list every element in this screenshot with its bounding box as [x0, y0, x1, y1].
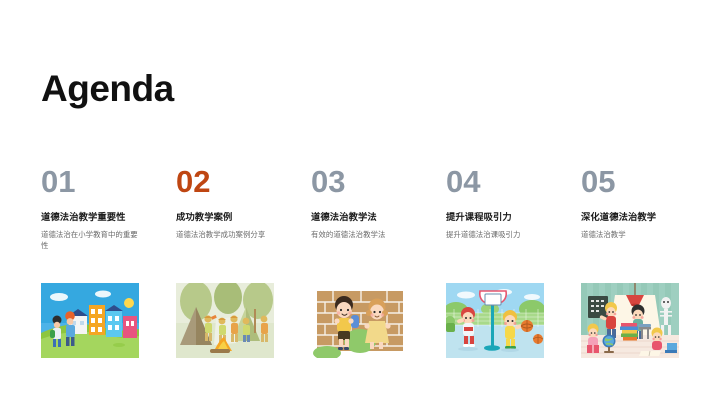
agenda-item-03[interactable]: 03 道德法治教学法 有效的道德法治教学法	[311, 166, 446, 251]
children-playing-basketball-illustration	[446, 283, 544, 358]
page-title: Agenda	[41, 70, 174, 107]
item-title-04: 提升课程吸引力	[446, 212, 581, 224]
item-title-03: 道德法治教学法	[311, 212, 446, 224]
two-children-at-brick-wall-illustration	[311, 283, 409, 358]
agenda-item-04[interactable]: 04 提升课程吸引力 提升道德法治课吸引力	[446, 166, 581, 251]
agenda-item-05[interactable]: 05 深化道德法治教学 道德法治教学	[581, 166, 716, 251]
agenda-grid: 01 道德法治教学重要性 道德法治在小学教育中的重要性	[41, 166, 701, 251]
agenda-item-02[interactable]: 02 成功教学案例 道德法治教学成功案例分享	[176, 166, 311, 251]
item-number-04: 04	[446, 166, 581, 204]
item-title-02: 成功教学案例	[176, 212, 311, 224]
item-number-02: 02	[176, 166, 311, 204]
item-number-03: 03	[311, 166, 446, 204]
item-title-05: 深化道德法治教学	[581, 212, 716, 224]
scouts-around-campfire-illustration	[176, 283, 274, 358]
children-walking-in-town-illustration	[41, 283, 139, 358]
agenda-item-01[interactable]: 01 道德法治教学重要性 道德法治在小学教育中的重要性	[41, 166, 176, 251]
item-title-01: 道德法治教学重要性	[41, 212, 176, 224]
item-desc-04: 提升道德法治课吸引力	[446, 229, 544, 240]
item-desc-02: 道德法治教学成功案例分享	[176, 229, 274, 240]
item-desc-03: 有效的道德法治教学法	[311, 229, 409, 240]
item-desc-05: 道德法治教学	[581, 229, 679, 240]
classroom-with-children-illustration	[581, 283, 679, 358]
item-number-01: 01	[41, 166, 176, 204]
item-number-05: 05	[581, 166, 716, 204]
item-desc-01: 道德法治在小学教育中的重要性	[41, 229, 139, 251]
agenda-slide: Agenda 01 道德法治教学重要性 道德法治在小学教育中的重要性	[0, 0, 720, 405]
